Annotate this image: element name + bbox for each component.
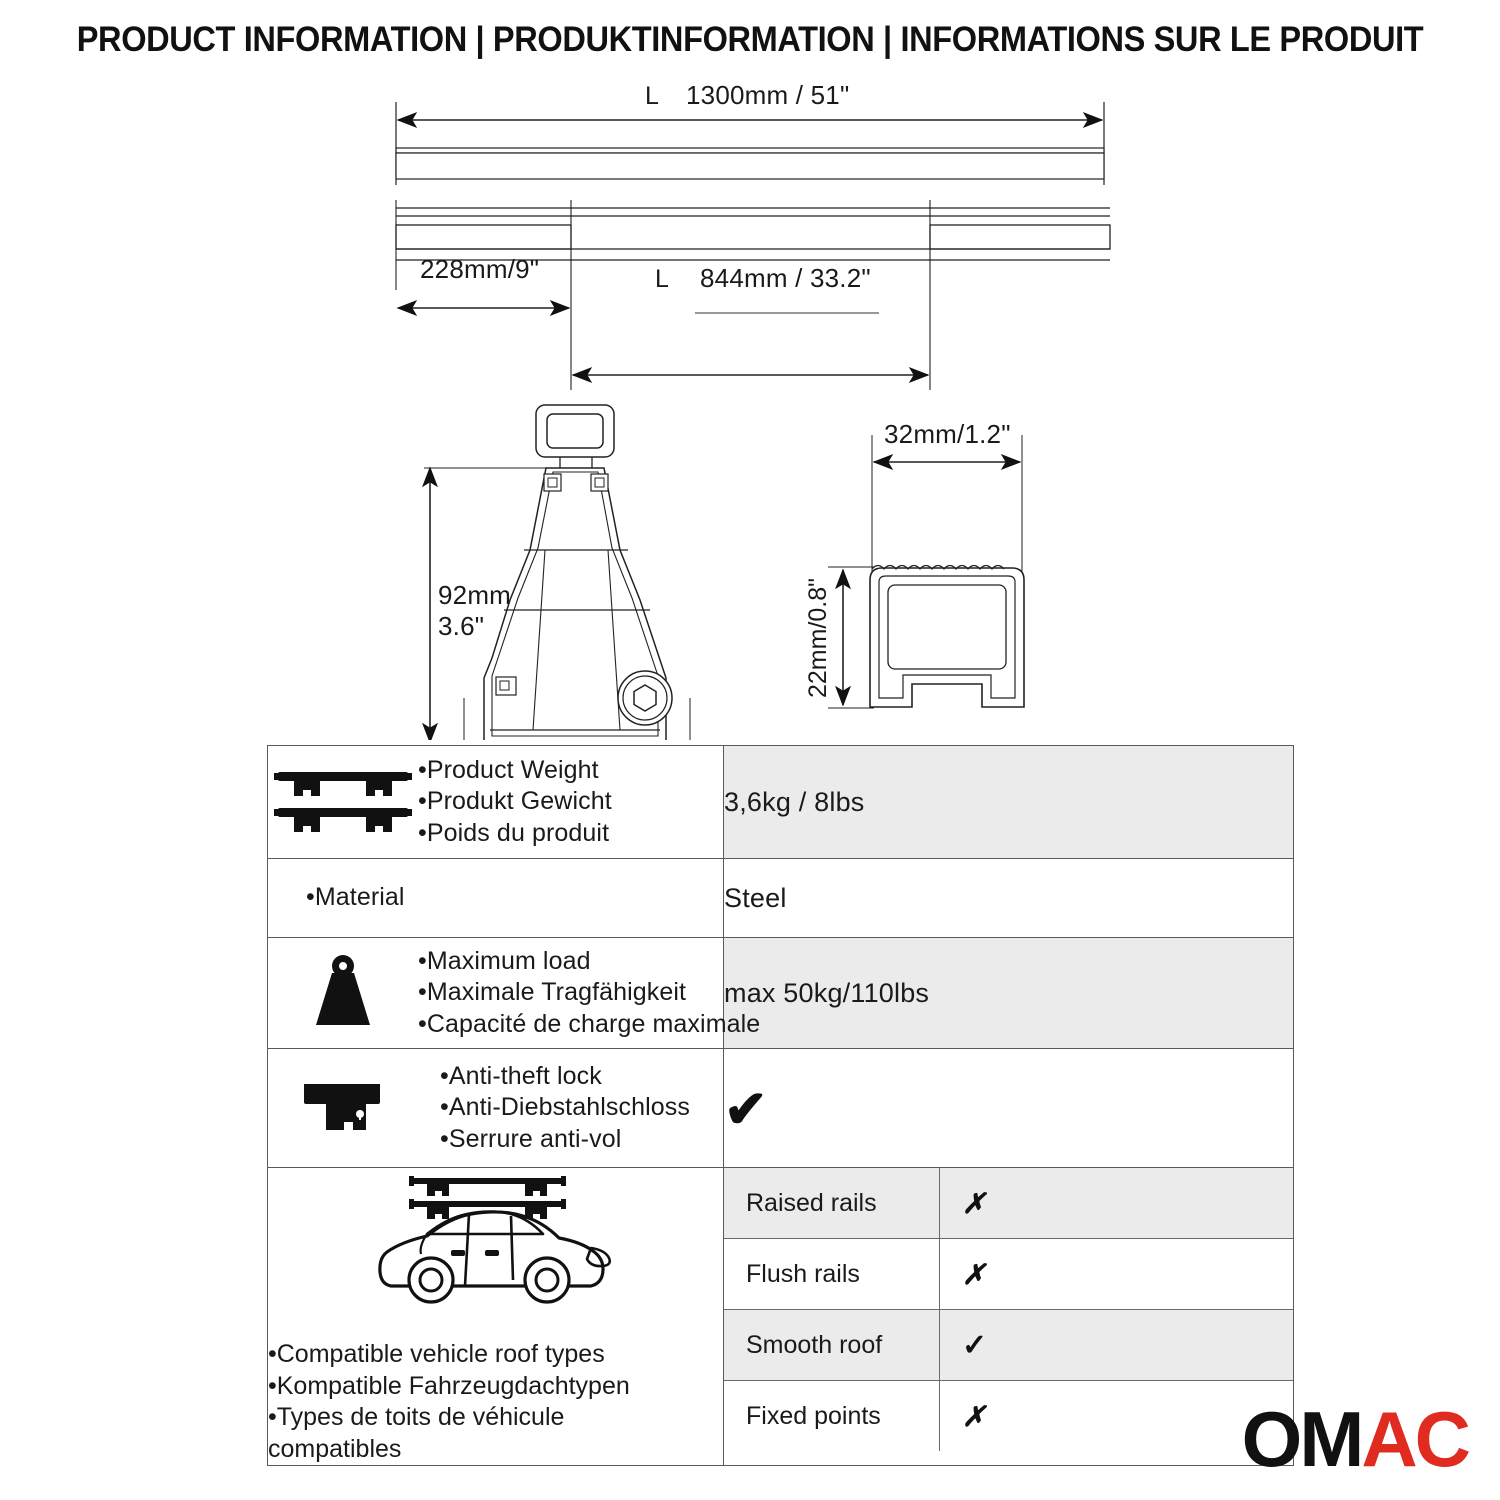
roof-types-table: Raised rails ✗ Flush rails ✗ [724,1168,1293,1451]
roof-types-label-line: •Kompatible Fahrzeugdachtypen [268,1371,723,1403]
spec-label-list: •Material [268,882,723,914]
crossbar-side-view [396,148,1104,179]
dim-profile-width-value: 32mm/1.2" [884,419,1011,449]
roof-type-row: Smooth roof ✓ [724,1310,1293,1381]
technical-drawing: L 1300mm / 51" 228mm/9" [0,80,1500,740]
omac-logo-dark-part: OM [1242,1395,1362,1483]
crossbars-icon-svg [272,766,414,838]
lock-icon [268,1080,418,1136]
spec-label-list: •Maximum load •Maximale Tragfähigkeit •C… [418,946,760,1041]
spec-label-cell: •Anti-theft lock •Anti-Diebstahlschloss … [268,1049,724,1168]
roof-type-mark: ✓ [940,1310,1294,1381]
profile-cross-section [870,566,1024,708]
product-information-page: PRODUCT INFORMATION | PRODUKTINFORMATION… [0,0,1500,1500]
spec-label-cell: •Product Weight •Produkt Gewicht •Poids … [268,746,724,859]
roof-types-options-cell: Raised rails ✗ Flush rails ✗ [724,1168,1294,1466]
roof-types-label-line: •Compatible vehicle roof types [268,1339,723,1371]
table-row: •Material Steel [268,859,1294,938]
roof-type-mark: ✗ [940,1381,1294,1452]
specification-table-body: •Product Weight •Produkt Gewicht •Poids … [268,746,1294,1466]
roof-type-mark: ✗ [940,1168,1294,1239]
mounting-foot-drawing [484,405,672,740]
spec-value-product-weight: 3,6kg / 8lbs [724,746,1294,859]
spec-label-line: •Produkt Gewicht [418,786,723,818]
page-header: PRODUCT INFORMATION | PRODUKTINFORMATION… [0,20,1500,60]
table-row: •Maximum load •Maximale Tragfähigkeit •C… [268,938,1294,1049]
roof-type-row: Fixed points ✗ [724,1381,1293,1452]
table-row: •Compatible vehicle roof types •Kompatib… [268,1168,1294,1466]
spec-label-line: •Maximale Tragfähigkeit [418,977,760,1009]
spec-label-cell: •Material [268,859,724,938]
car-with-crossbars-icon-svg [365,1168,627,1320]
crossbar-top-view [396,200,1110,390]
spec-label-cell: •Maximum load •Maximale Tragfähigkeit •C… [268,938,724,1049]
table-row: •Product Weight •Produkt Gewicht •Poids … [268,746,1294,859]
spec-label-line: •Serrure anti-vol [440,1124,723,1156]
roof-types-label-line: •Types de toits de véhicule [268,1402,723,1434]
table-row: •Anti-theft lock •Anti-Diebstahlschloss … [268,1049,1294,1168]
dim-foot-height-line2: 3.6" [438,611,484,641]
spec-label-line: •Maximum load [418,946,760,978]
roof-type-name: Flush rails [724,1239,940,1310]
spec-value-material: Steel [724,859,1294,938]
cross-icon: ✗ [962,1188,985,1219]
spec-label-line: •Material [306,882,723,914]
technical-drawing-svg: L 1300mm / 51" 228mm/9" [0,80,1500,740]
dim-foot-offset-value: 228mm/9" [420,254,539,284]
roof-types-label-line: compatibles [268,1434,723,1466]
roof-type-name: Fixed points [724,1381,940,1452]
spec-label-list: •Anti-theft lock •Anti-Diebstahlschloss … [418,1061,723,1156]
omac-logo: OMAC [1242,1400,1468,1478]
spec-value-maximum-load: max 50kg/110lbs [724,938,1294,1049]
spec-label-line: •Capacité de charge maximale [418,1009,760,1041]
page-title: PRODUCT INFORMATION | PRODUKTINFORMATION… [53,20,1448,60]
spec-label-list: •Product Weight •Produkt Gewicht •Poids … [418,755,723,850]
specification-table: •Product Weight •Produkt Gewicht •Poids … [267,745,1294,1466]
weight-icon [268,953,418,1033]
cross-icon: ✗ [962,1259,985,1290]
roof-types-label-cell: •Compatible vehicle roof types •Kompatib… [268,1168,724,1466]
roof-type-mark: ✗ [940,1239,1294,1310]
roof-type-name: Raised rails [724,1168,940,1239]
dim-span-prefix: L [655,265,669,293]
cross-icon: ✗ [962,1401,985,1432]
roof-type-name: Smooth roof [724,1310,940,1381]
check-icon: ✓ [962,1329,987,1362]
dim-span-value: 844mm / 33.2" [700,263,871,293]
roof-type-row: Raised rails ✗ [724,1168,1293,1239]
checkmark-icon: ✔ [724,1084,768,1136]
spec-label-line: •Poids du produit [418,818,723,850]
weight-icon-svg [302,953,384,1033]
crossbars-icon [268,766,418,838]
dim-foot-width-value: 104mm / 4" [500,736,634,740]
spec-label-line: •Anti-theft lock [440,1061,723,1093]
lock-icon-svg [300,1080,386,1136]
spec-label-line: •Product Weight [418,755,723,787]
dim-profile-height-value: 22mm/0.8" [804,578,832,698]
car-with-crossbars-icon [268,1168,723,1325]
dim-foot-height-line1: 92mm [438,580,511,610]
dim-bar-length-prefix: L [645,82,659,110]
omac-logo-red-part: AC [1361,1395,1468,1483]
spec-value-anti-theft-lock: ✔ [724,1049,1294,1168]
dim-profile-height [828,567,874,708]
spec-label-line: •Anti-Diebstahlschloss [440,1092,723,1124]
roof-types-label-list: •Compatible vehicle roof types •Kompatib… [268,1339,723,1465]
dim-bar-length-value: 1300mm / 51" [686,80,849,110]
roof-type-row: Flush rails ✗ [724,1239,1293,1310]
